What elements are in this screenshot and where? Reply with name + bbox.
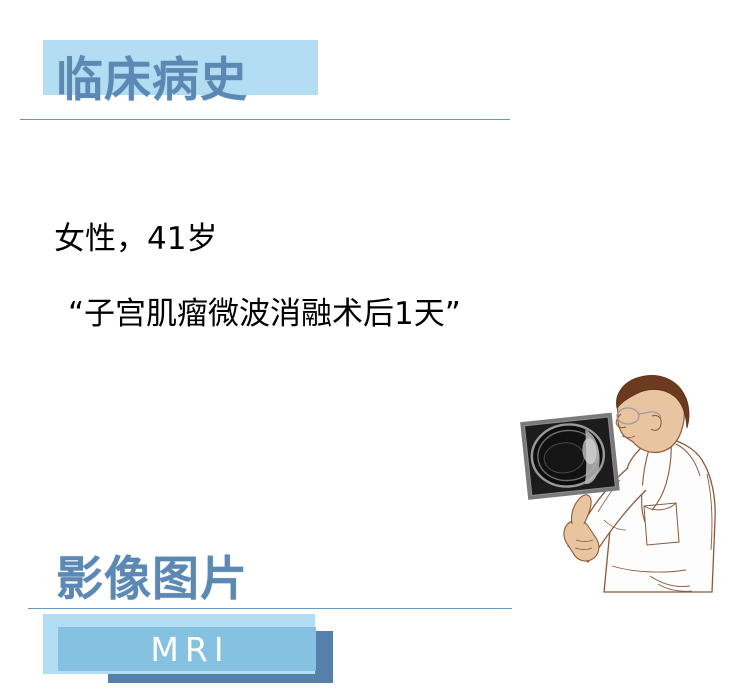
mri-modality-label: MRI — [58, 627, 316, 671]
doctor-reviewing-mri-film-illustration — [500, 370, 751, 620]
imaging-section-heading: 影像图片 — [56, 556, 248, 603]
imaging-header-divider — [28, 608, 512, 609]
clinical-history-heading: 临床病史 — [56, 57, 248, 104]
mri-film — [520, 413, 620, 500]
patient-demographics-text: 女性，41岁 — [54, 224, 217, 255]
clinical-header-divider — [20, 119, 510, 120]
clinical-note-text: “子宫肌瘤微波消融术后1天” — [68, 299, 461, 330]
